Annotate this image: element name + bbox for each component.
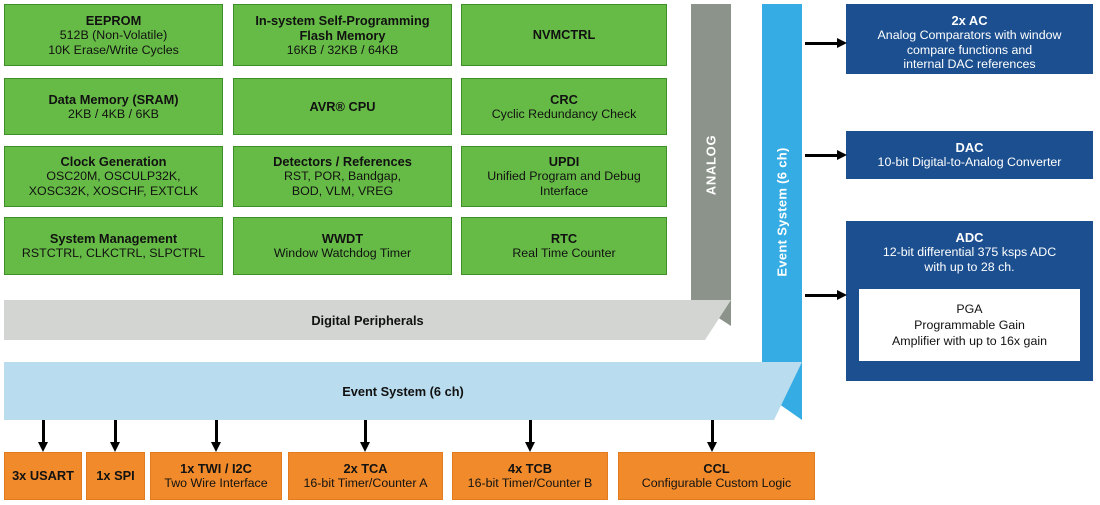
arrow-down-icon-spi bbox=[110, 420, 120, 452]
analog-block-line: internal DAC references bbox=[903, 57, 1035, 72]
core-block-avr-cpu: AVR® CPU bbox=[233, 78, 452, 135]
peripheral-title: CCL bbox=[703, 461, 729, 476]
core-block-line: OSC20M, OSCULP32K, bbox=[46, 169, 180, 184]
core-block-line: RST, POR, Bandgap, bbox=[284, 169, 401, 184]
peripheral-line: Two Wire Interface bbox=[164, 476, 267, 491]
core-block-system-management: System Management RSTCTRL, CLKCTRL, SLPC… bbox=[4, 217, 223, 275]
core-block-title-second-line: Flash Memory bbox=[299, 28, 385, 43]
core-block-line: Interface bbox=[540, 184, 588, 199]
arrow-down-icon-tcb bbox=[525, 420, 535, 452]
peripheral-block-twi: 1x TWI / I2C Two Wire Interface bbox=[150, 452, 282, 500]
analog-block-ac: 2x AC Analog Comparators with window com… bbox=[846, 4, 1093, 74]
peripheral-line: 16-bit Timer/Counter A bbox=[304, 476, 428, 491]
core-block-nvmctrl: NVMCTRL bbox=[461, 4, 667, 66]
peripheral-line: Configurable Custom Logic bbox=[642, 476, 791, 491]
core-block-line: 16KB / 32KB / 64KB bbox=[287, 43, 399, 58]
core-block-clock-generation: Clock Generation OSC20M, OSCULP32K, XOSC… bbox=[4, 146, 223, 207]
digital-peripherals-label: Digital Peripherals bbox=[311, 313, 423, 328]
arrow-down-icon-tca bbox=[360, 420, 370, 452]
event-system-column: Event System (6 ch) bbox=[762, 4, 802, 420]
analog-block-line: with up to 28 ch. bbox=[924, 260, 1014, 275]
core-block-wwdt: WWDT Window Watchdog Timer bbox=[233, 217, 452, 275]
core-block-line: BOD, VLM, VREG bbox=[292, 184, 393, 199]
peripheral-title: 2x TCA bbox=[343, 461, 387, 476]
core-block-updi: UPDI Unified Program and Debug Interface bbox=[461, 146, 667, 207]
core-block-title: CRC bbox=[550, 92, 578, 107]
peripheral-title: 3x USART bbox=[12, 468, 74, 483]
peripheral-line: 16-bit Timer/Counter B bbox=[468, 476, 593, 491]
peripheral-block-usart: 3x USART bbox=[4, 452, 82, 500]
peripheral-title: 4x TCB bbox=[508, 461, 552, 476]
analog-block-dac: DAC 10-bit Digital-to-Analog Converter bbox=[846, 131, 1093, 179]
core-block-title: In-system Self-Programming bbox=[255, 13, 429, 28]
core-block-title: UPDI bbox=[549, 154, 580, 169]
core-block-rtc: RTC Real Time Counter bbox=[461, 217, 667, 275]
core-block-title: Data Memory (SRAM) bbox=[48, 92, 178, 107]
peripheral-block-tca: 2x TCA 16-bit Timer/Counter A bbox=[288, 452, 443, 500]
core-block-line: Cyclic Redundancy Check bbox=[492, 107, 637, 122]
core-block-line: XOSC32K, XOSCHF, EXTCLK bbox=[29, 184, 198, 199]
event-system-bar-label: Event System (6 ch) bbox=[342, 384, 464, 399]
analog-block-line: Analog Comparators with window bbox=[878, 28, 1062, 43]
core-block-title: NVMCTRL bbox=[533, 27, 596, 42]
peripheral-block-ccl: CCL Configurable Custom Logic bbox=[618, 452, 815, 500]
analog-block-line: 12-bit differential 375 ksps ADC bbox=[883, 245, 1056, 260]
event-system-bar: Event System (6 ch) bbox=[4, 362, 802, 420]
core-block-title: System Management bbox=[50, 231, 177, 246]
event-system-column-label: Event System (6 ch) bbox=[775, 147, 790, 276]
core-block-line: Window Watchdog Timer bbox=[274, 246, 411, 261]
core-block-title: AVR® CPU bbox=[309, 99, 375, 114]
peripheral-title: 1x SPI bbox=[96, 468, 134, 483]
analog-block-title: ADC bbox=[956, 230, 984, 245]
arrow-down-icon-twi bbox=[211, 420, 221, 452]
core-block-title: Clock Generation bbox=[61, 154, 167, 169]
block-diagram-canvas: EEPROM 512B (Non-Volatile) 10K Erase/Wri… bbox=[0, 0, 1100, 505]
analog-block-line: compare functions and bbox=[907, 43, 1032, 58]
peripheral-title: 1x TWI / I2C bbox=[180, 461, 252, 476]
core-block-line: RSTCTRL, CLKCTRL, SLPCTRL bbox=[22, 246, 205, 261]
digital-peripherals-bar: Digital Peripherals bbox=[4, 300, 731, 340]
pga-line: Amplifier with up to 16x gain bbox=[892, 333, 1047, 349]
core-block-line: 10K Erase/Write Cycles bbox=[48, 43, 179, 58]
core-block-eeprom: EEPROM 512B (Non-Volatile) 10K Erase/Wri… bbox=[4, 4, 223, 66]
pga-block: PGA Programmable Gain Amplifier with up … bbox=[859, 289, 1080, 361]
arrow-right-icon-adc bbox=[805, 290, 847, 300]
analog-block-line: 10-bit Digital-to-Analog Converter bbox=[878, 155, 1062, 170]
core-block-line: Real Time Counter bbox=[512, 246, 615, 261]
analog-block-title: DAC bbox=[956, 140, 984, 155]
arrow-down-icon-ccl bbox=[707, 420, 717, 452]
peripheral-block-spi: 1x SPI bbox=[86, 452, 145, 500]
core-block-crc: CRC Cyclic Redundancy Check bbox=[461, 78, 667, 135]
peripheral-block-tcb: 4x TCB 16-bit Timer/Counter B bbox=[452, 452, 608, 500]
arrow-right-icon-ac bbox=[805, 38, 847, 48]
analog-column-label: ANALOG bbox=[704, 135, 719, 196]
core-block-sram: Data Memory (SRAM) 2KB / 4KB / 6KB bbox=[4, 78, 223, 135]
core-block-line: 512B (Non-Volatile) bbox=[60, 28, 167, 43]
arrow-right-icon-dac bbox=[805, 150, 847, 160]
core-block-title: EEPROM bbox=[86, 13, 141, 28]
analog-column: ANALOG bbox=[691, 4, 731, 326]
core-block-line: Unified Program and Debug bbox=[487, 169, 641, 184]
core-block-title: Detectors / References bbox=[273, 154, 412, 169]
pga-title: PGA bbox=[956, 301, 982, 317]
core-block-line: 2KB / 4KB / 6KB bbox=[68, 107, 159, 122]
core-block-detectors-references: Detectors / References RST, POR, Bandgap… bbox=[233, 146, 452, 207]
core-block-title: RTC bbox=[551, 231, 577, 246]
pga-line: Programmable Gain bbox=[914, 317, 1025, 333]
arrow-down-icon-usart bbox=[38, 420, 48, 452]
core-block-title: WWDT bbox=[322, 231, 363, 246]
core-block-flash-memory: In-system Self-Programming Flash Memory … bbox=[233, 4, 452, 66]
analog-block-title: 2x AC bbox=[951, 13, 987, 28]
